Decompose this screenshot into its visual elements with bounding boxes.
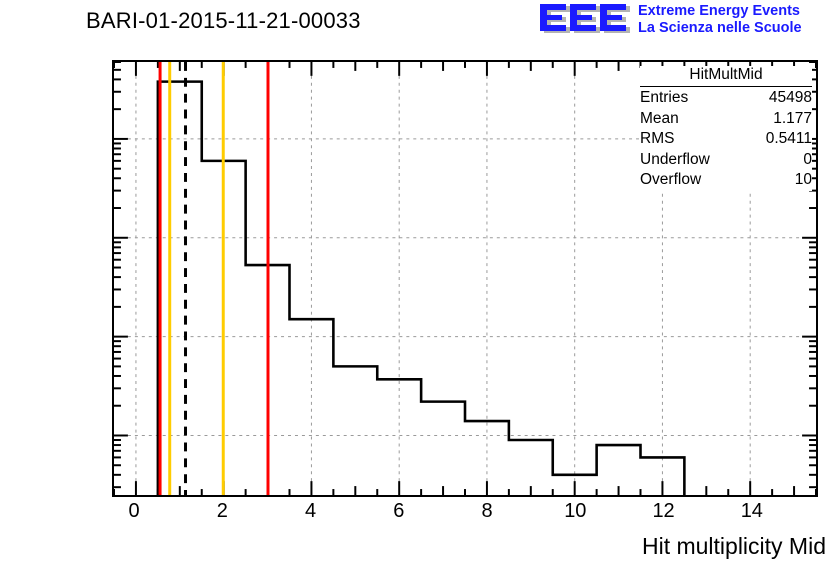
stats-row-mean: Mean 1.177 [640,109,812,130]
stats-value-entries: 45498 [769,88,812,109]
x-tick-label: 6 [393,500,404,523]
x-tick-label: 8 [482,500,493,523]
stats-row-entries: Entries 45498 [640,88,812,109]
stats-row-underflow: Underflow 0 [640,150,812,171]
stats-title: HitMultMid [640,66,812,87]
x-axis-title: Hit multiplicity Mid [642,533,826,560]
x-tick-label: 12 [652,500,674,523]
stats-value-mean: 1.177 [773,109,812,130]
x-tick-label: 14 [741,500,763,523]
x-tick-label: 4 [305,500,316,523]
stats-label-rms: RMS [640,129,674,150]
stats-label-overflow: Overflow [640,170,701,191]
stats-row-rms: RMS 0.5411 [640,129,812,150]
stats-row-overflow: Overflow 10 [640,170,812,191]
stats-label-entries: Entries [640,88,688,109]
stats-label-underflow: Underflow [640,150,710,171]
root-canvas: BARI-01-2015-11-21-00033 [0,0,836,572]
stats-value-rms: 0.5411 [766,129,812,150]
stats-label-mean: Mean [640,109,679,130]
stats-value-overflow: 10 [795,170,812,191]
x-tick-label: 10 [564,500,586,523]
x-tick-label: 2 [217,500,228,523]
stats-value-underflow: 0 [803,150,812,171]
x-tick-label: 0 [129,500,140,523]
stats-box: HitMultMid Entries 45498 Mean 1.177 RMS … [640,66,812,191]
